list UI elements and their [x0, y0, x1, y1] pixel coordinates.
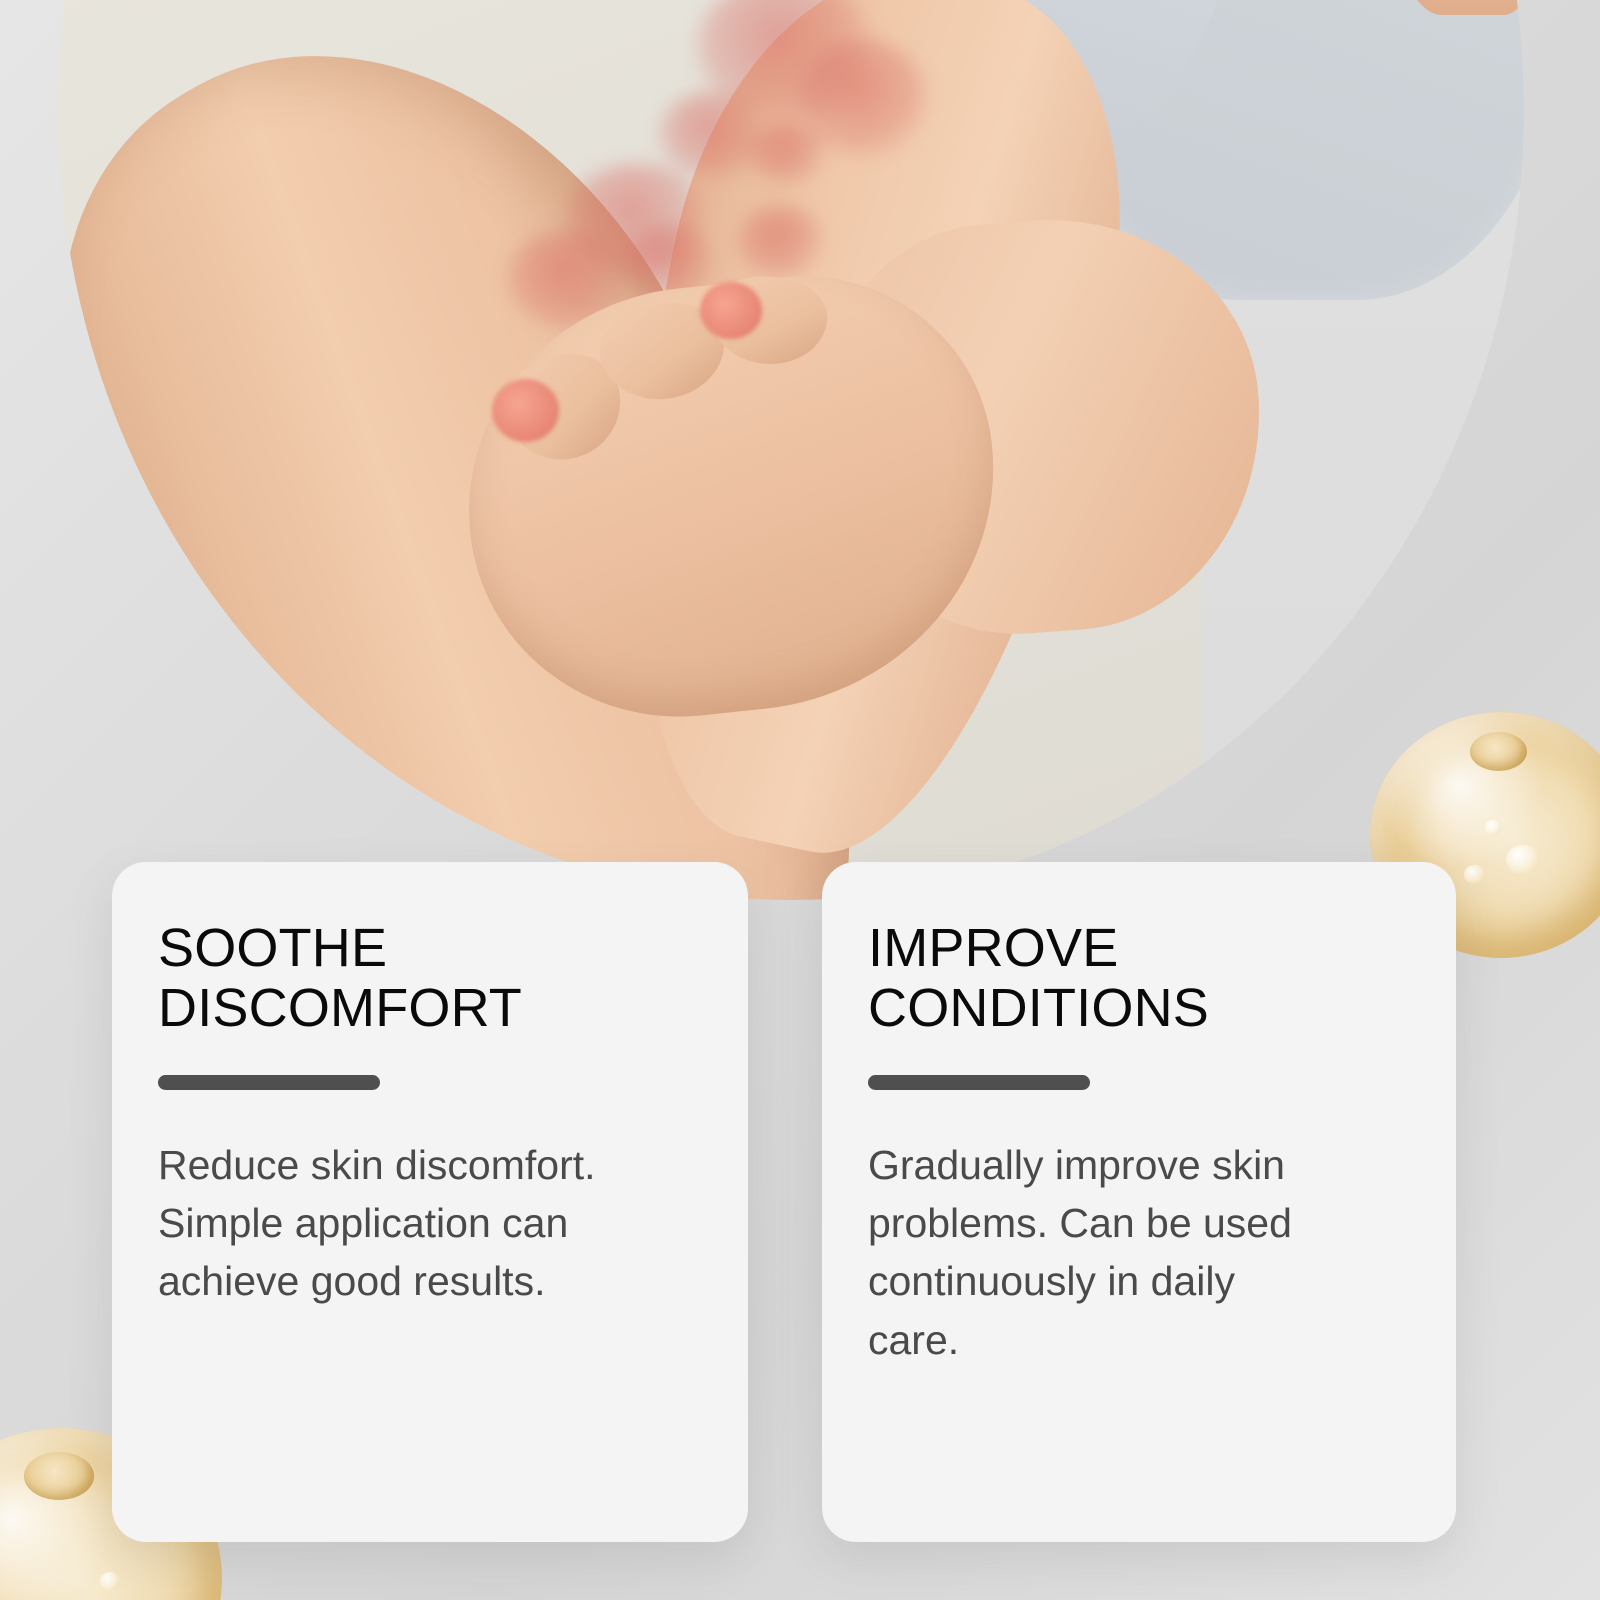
card-title: IMPROVE CONDITIONS	[868, 918, 1416, 1039]
skin-rash-photo	[58, 0, 1524, 900]
droplet-bubble	[1506, 845, 1540, 875]
card-title: SOOTHE DISCOMFORT	[158, 918, 708, 1039]
card-content: IMPROVE CONDITIONS Gradually improve ski…	[868, 918, 1416, 1369]
benefit-card-improve-conditions: IMPROVE CONDITIONS Gradually improve ski…	[822, 862, 1456, 1542]
card-description: Gradually improve skin problems. Can be …	[868, 1136, 1298, 1369]
fingertip	[492, 379, 559, 442]
droplet-bubble	[1485, 820, 1501, 835]
hero-photo-circle	[58, 0, 1524, 900]
rash-patch	[738, 205, 826, 278]
fingertip	[700, 282, 762, 339]
card-accent-bar	[868, 1075, 1090, 1090]
droplet-bubble	[100, 1572, 119, 1590]
promo-poster: SOOTHE DISCOMFORT Reduce skin discomfort…	[0, 0, 1600, 1600]
benefit-card-soothe-discomfort: SOOTHE DISCOMFORT Reduce skin discomfort…	[112, 862, 748, 1542]
card-content: SOOTHE DISCOMFORT Reduce skin discomfort…	[158, 918, 708, 1311]
card-description: Reduce skin discomfort. Simple applicati…	[158, 1136, 628, 1311]
droplet-bubble	[1464, 865, 1485, 885]
card-accent-bar	[158, 1075, 380, 1090]
rash-patch	[747, 119, 828, 182]
